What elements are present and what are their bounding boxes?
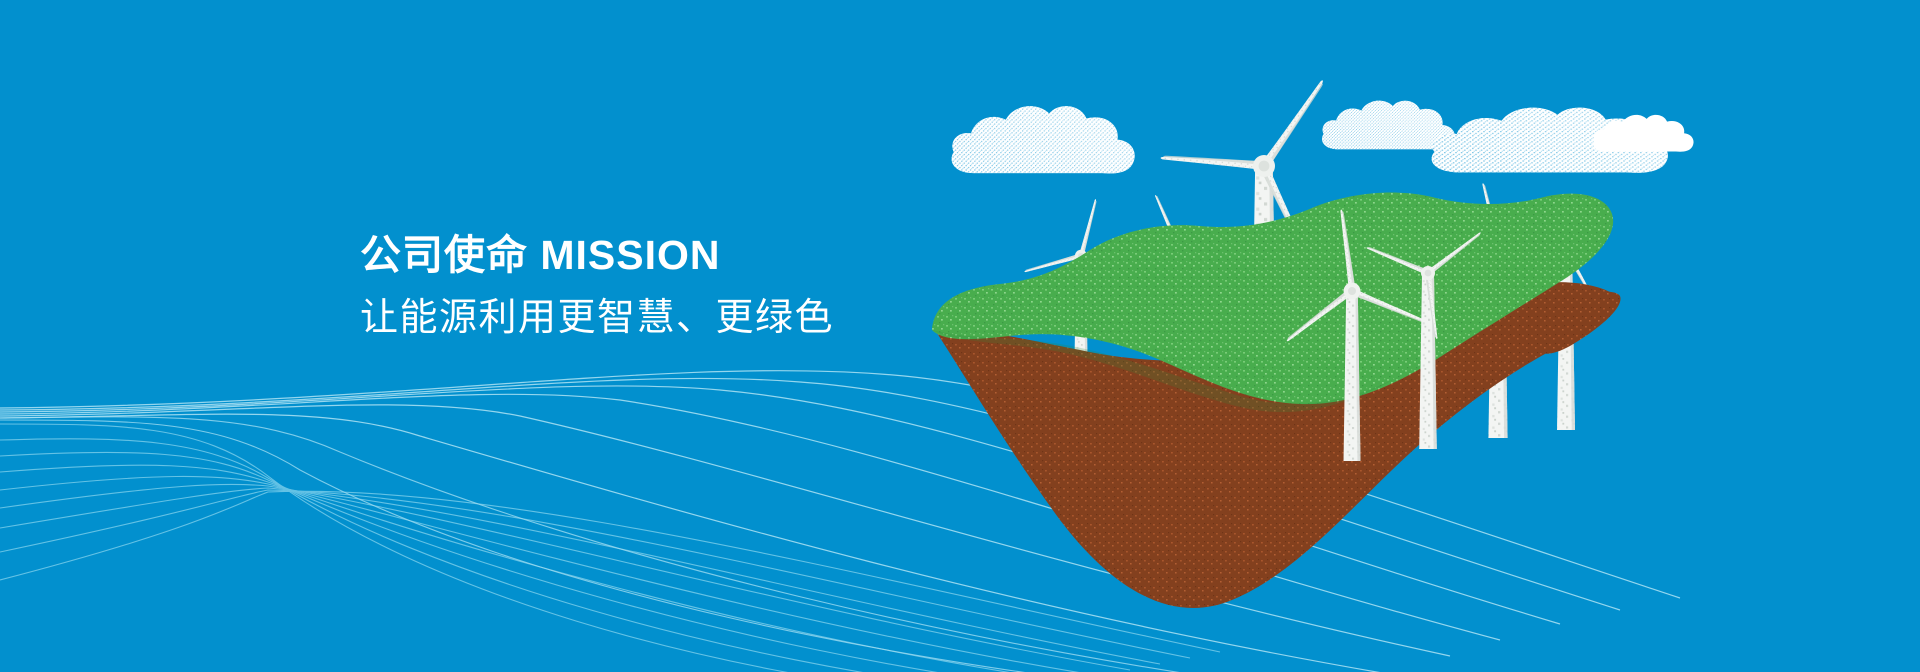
page-title: 公司使命 MISSION [360, 228, 1120, 282]
mission-text-block: 公司使命 MISSION 让能源利用更智慧、更绿色 [360, 228, 1120, 342]
cloud-group [952, 101, 1694, 174]
mission-banner: 公司使命 MISSION 让能源利用更智慧、更绿色 [0, 0, 1920, 672]
page-subtitle: 让能源利用更智慧、更绿色 [360, 294, 1120, 342]
